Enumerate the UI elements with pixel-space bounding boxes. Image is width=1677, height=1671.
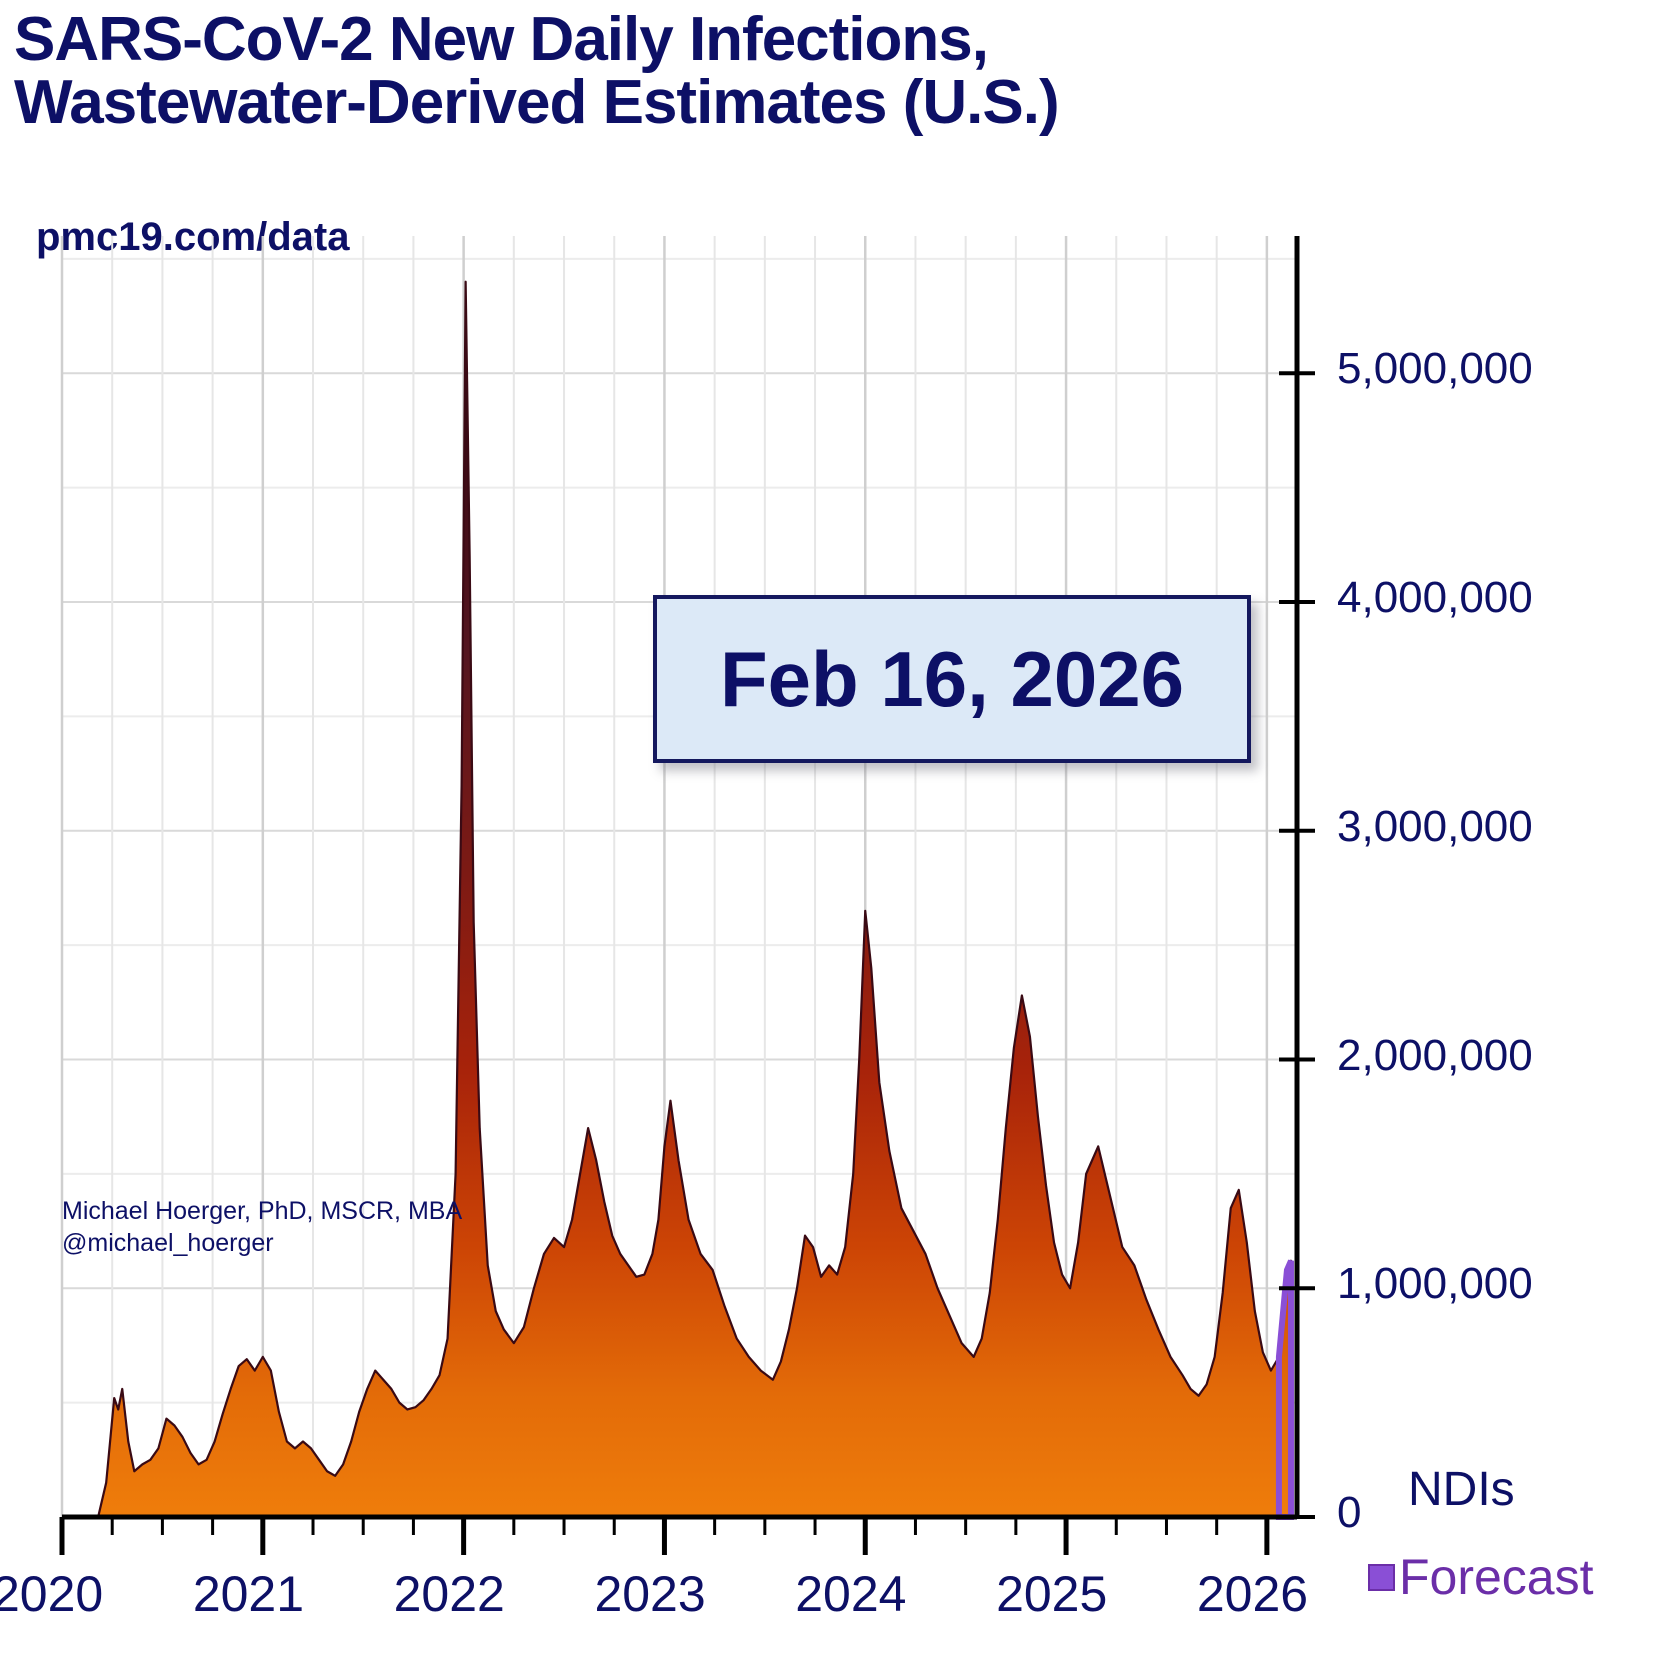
area-series bbox=[98, 282, 1291, 1517]
x-tick-label: 2020 bbox=[0, 1565, 103, 1623]
x-tick-label: 2023 bbox=[594, 1565, 705, 1623]
y-tick-label: 5,000,000 bbox=[1337, 344, 1533, 394]
y-tick-label: 1,000,000 bbox=[1337, 1259, 1533, 1309]
forecast-legend-label: Forecast bbox=[1399, 1548, 1594, 1606]
attribution: Michael Hoerger, PhD, MSCR, MBA @michael… bbox=[62, 1196, 462, 1259]
x-tick-label: 2025 bbox=[996, 1565, 1107, 1623]
y-tick-label: 2,000,000 bbox=[1337, 1031, 1533, 1081]
x-tick-label: 2026 bbox=[1197, 1565, 1308, 1623]
date-badge-text: Feb 16, 2026 bbox=[720, 634, 1184, 725]
y-tick-label: 3,000,000 bbox=[1337, 802, 1533, 852]
x-tick-label: 2024 bbox=[795, 1565, 906, 1623]
x-tick-label: 2021 bbox=[193, 1565, 304, 1623]
forecast-swatch-icon bbox=[1368, 1564, 1395, 1591]
date-badge: Feb 16, 2026 bbox=[653, 595, 1251, 763]
forecast-legend[interactable]: Forecast bbox=[1368, 1548, 1594, 1606]
series-legend-label: NDIs bbox=[1408, 1462, 1515, 1517]
x-tick-label: 2022 bbox=[394, 1565, 505, 1623]
y-tick-label: 0 bbox=[1337, 1488, 1361, 1538]
y-tick-label: 4,000,000 bbox=[1337, 573, 1533, 623]
